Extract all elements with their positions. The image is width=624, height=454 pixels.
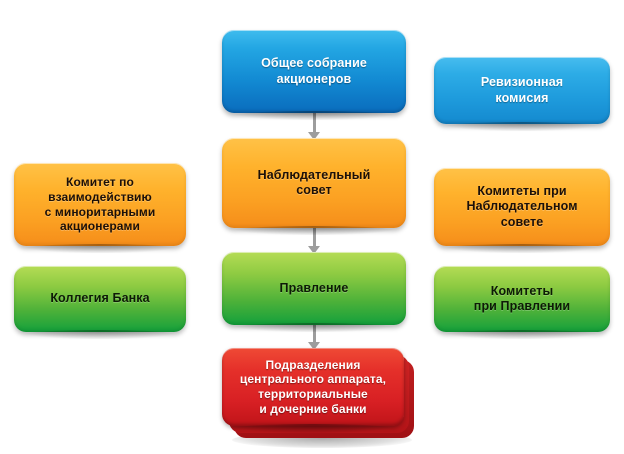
node-board-committees[interactable]: Комитеты при Правлении (434, 266, 610, 332)
node-general-meeting[interactable]: Общее собрание акционеров (222, 30, 406, 113)
node-supervisory-board[interactable]: Наблюдательный совет (222, 138, 406, 228)
node-supervisory-committees-label: Комитеты при Наблюдательном совете (458, 184, 585, 230)
org-chart-diagram: Общее собрание акционеров Ревизионная ко… (0, 0, 624, 454)
node-bank-collegium-label: Коллегия Банка (42, 291, 157, 306)
node-management-board[interactable]: Правление (222, 252, 406, 325)
node-audit-commission[interactable]: Ревизионная комисия (434, 57, 610, 124)
node-bank-collegium[interactable]: Коллегия Банка (14, 266, 186, 332)
node-divisions[interactable]: Подразделения центрального аппарата, тер… (222, 348, 404, 426)
node-board-committees-label: Комитеты при Правлении (466, 284, 578, 315)
node-supervisory-board-label: Наблюдательный совет (250, 168, 379, 199)
node-general-meeting-label: Общее собрание акционеров (253, 56, 375, 87)
node-management-board-label: Правление (272, 281, 357, 296)
node-supervisory-committees[interactable]: Комитеты при Наблюдательном совете (434, 168, 610, 246)
node-divisions-label: Подразделения центрального аппарата, тер… (232, 358, 394, 417)
node-audit-commission-label: Ревизионная комисия (473, 75, 571, 106)
node-minority-committee-label: Комитет по взаимодействию с миноритарным… (37, 175, 164, 234)
node-minority-committee[interactable]: Комитет по взаимодействию с миноритарным… (14, 163, 186, 246)
